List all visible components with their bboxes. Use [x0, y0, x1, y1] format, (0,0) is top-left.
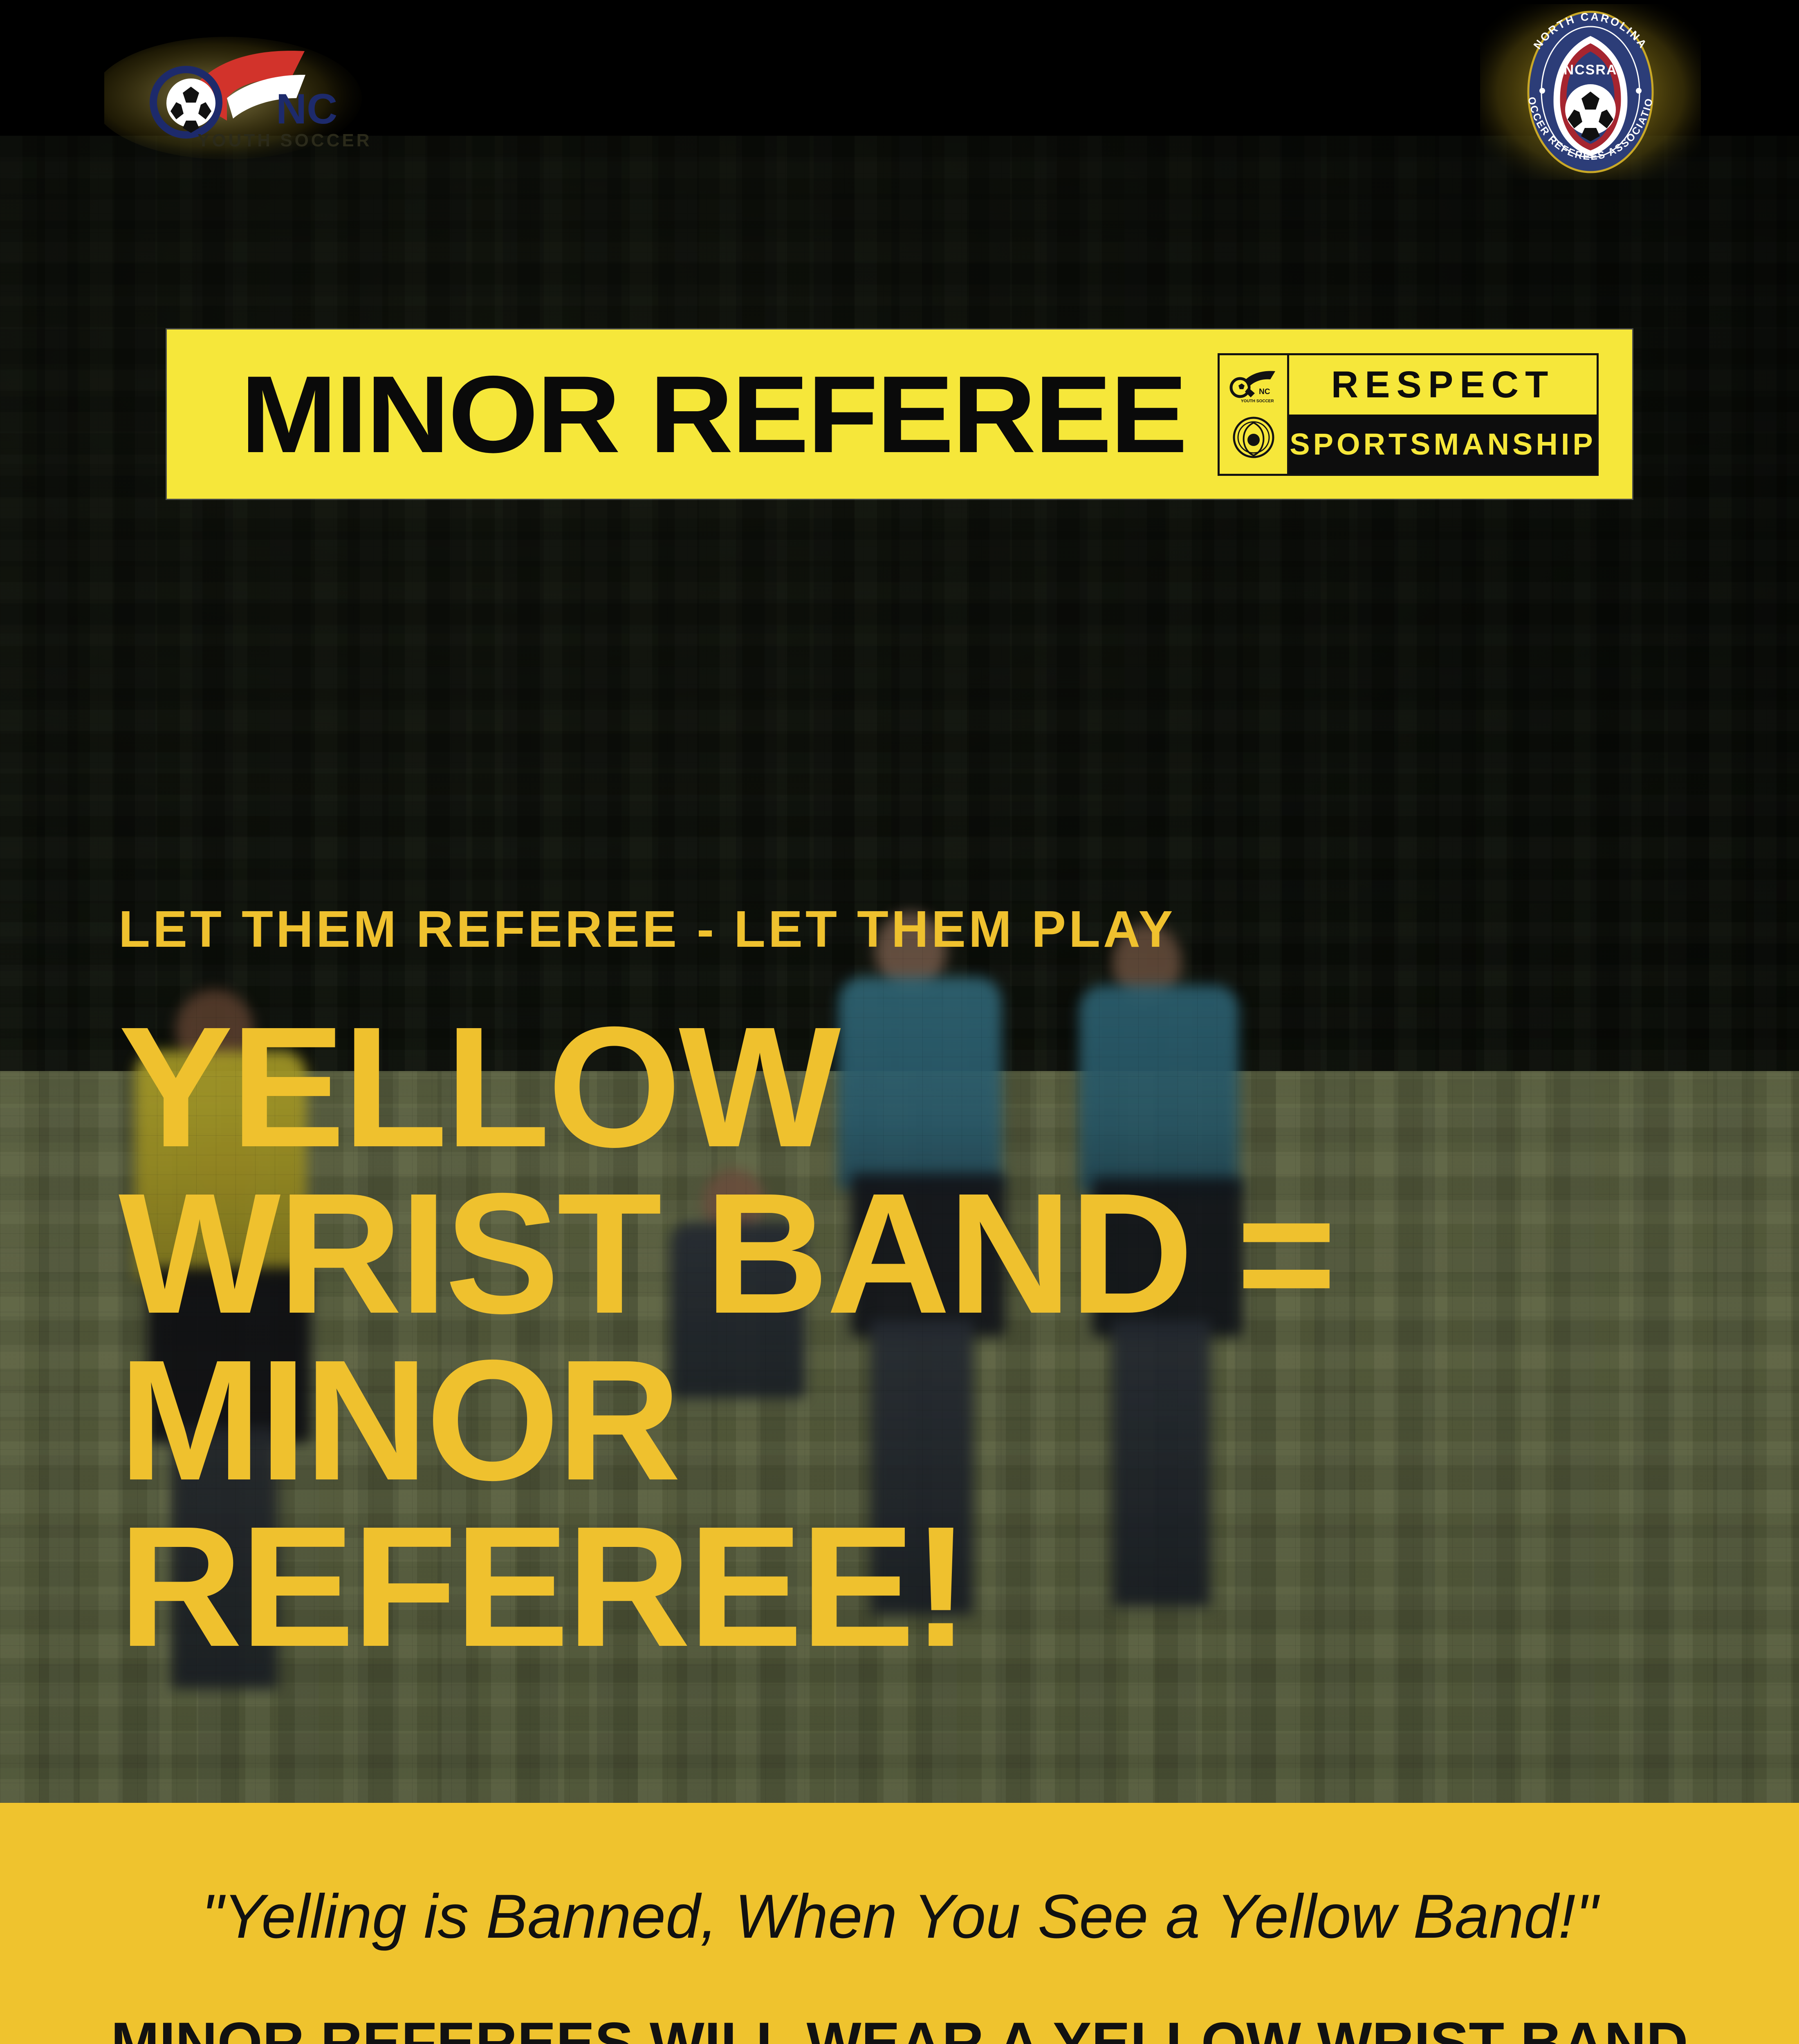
hero-headline: YELLOW WRIST BAND = MINOR REFEREE!	[119, 1004, 1419, 1670]
ncsra-badge-icon: NORTH CAROLINA SOCCER REFEREES ASSOCIATI…	[1480, 4, 1701, 180]
svg-text:NC: NC	[1259, 388, 1270, 396]
banner-title: MINOR REFEREE	[240, 359, 1186, 469]
svg-text:NC: NC	[276, 85, 337, 133]
hero-kicker: LET THEM REFEREE - LET THEM PLAY	[119, 903, 1468, 955]
announcement-heading: MINOR REFEREES WILL WEAR A YELLOW WRIST …	[0, 1951, 1799, 2044]
referee-badge-mini-icon	[1231, 415, 1276, 460]
respect-label: RESPECT	[1289, 355, 1597, 415]
info-panel: "Yelling is Banned, When You See a Yello…	[0, 1803, 1799, 2044]
mark-words-column: RESPECT SPORTSMANSHIP	[1289, 355, 1597, 474]
respect-sportsmanship-mark: NC YOUTH SOCCER RESPECT SPORTSMANSHIP	[1218, 353, 1599, 476]
svg-text:YOUTH SOCCER: YOUTH SOCCER	[197, 130, 372, 150]
slogan-quote: "Yelling is Banned, When You See a Yello…	[0, 1803, 1799, 1951]
mark-logo-column: NC YOUTH SOCCER	[1220, 355, 1289, 474]
hero-text-block: LET THEM REFEREE - LET THEM PLAY YELLOW …	[119, 903, 1468, 1670]
minor-referee-banner: MINOR REFEREE NC YOUTH SOCCER	[167, 329, 1632, 499]
svg-text:YOUTH SOCCER: YOUTH SOCCER	[1241, 399, 1274, 403]
sportsmanship-label: SPORTSMANSHIP	[1289, 415, 1597, 474]
poster-canvas: NC YOUTH SOCCER	[0, 0, 1799, 2044]
svg-text:NCSRA: NCSRA	[1564, 62, 1617, 78]
nc-youth-soccer-mini-icon: NC YOUTH SOCCER	[1229, 369, 1278, 405]
nc-youth-soccer-logo-icon: NC YOUTH SOCCER	[104, 37, 382, 159]
